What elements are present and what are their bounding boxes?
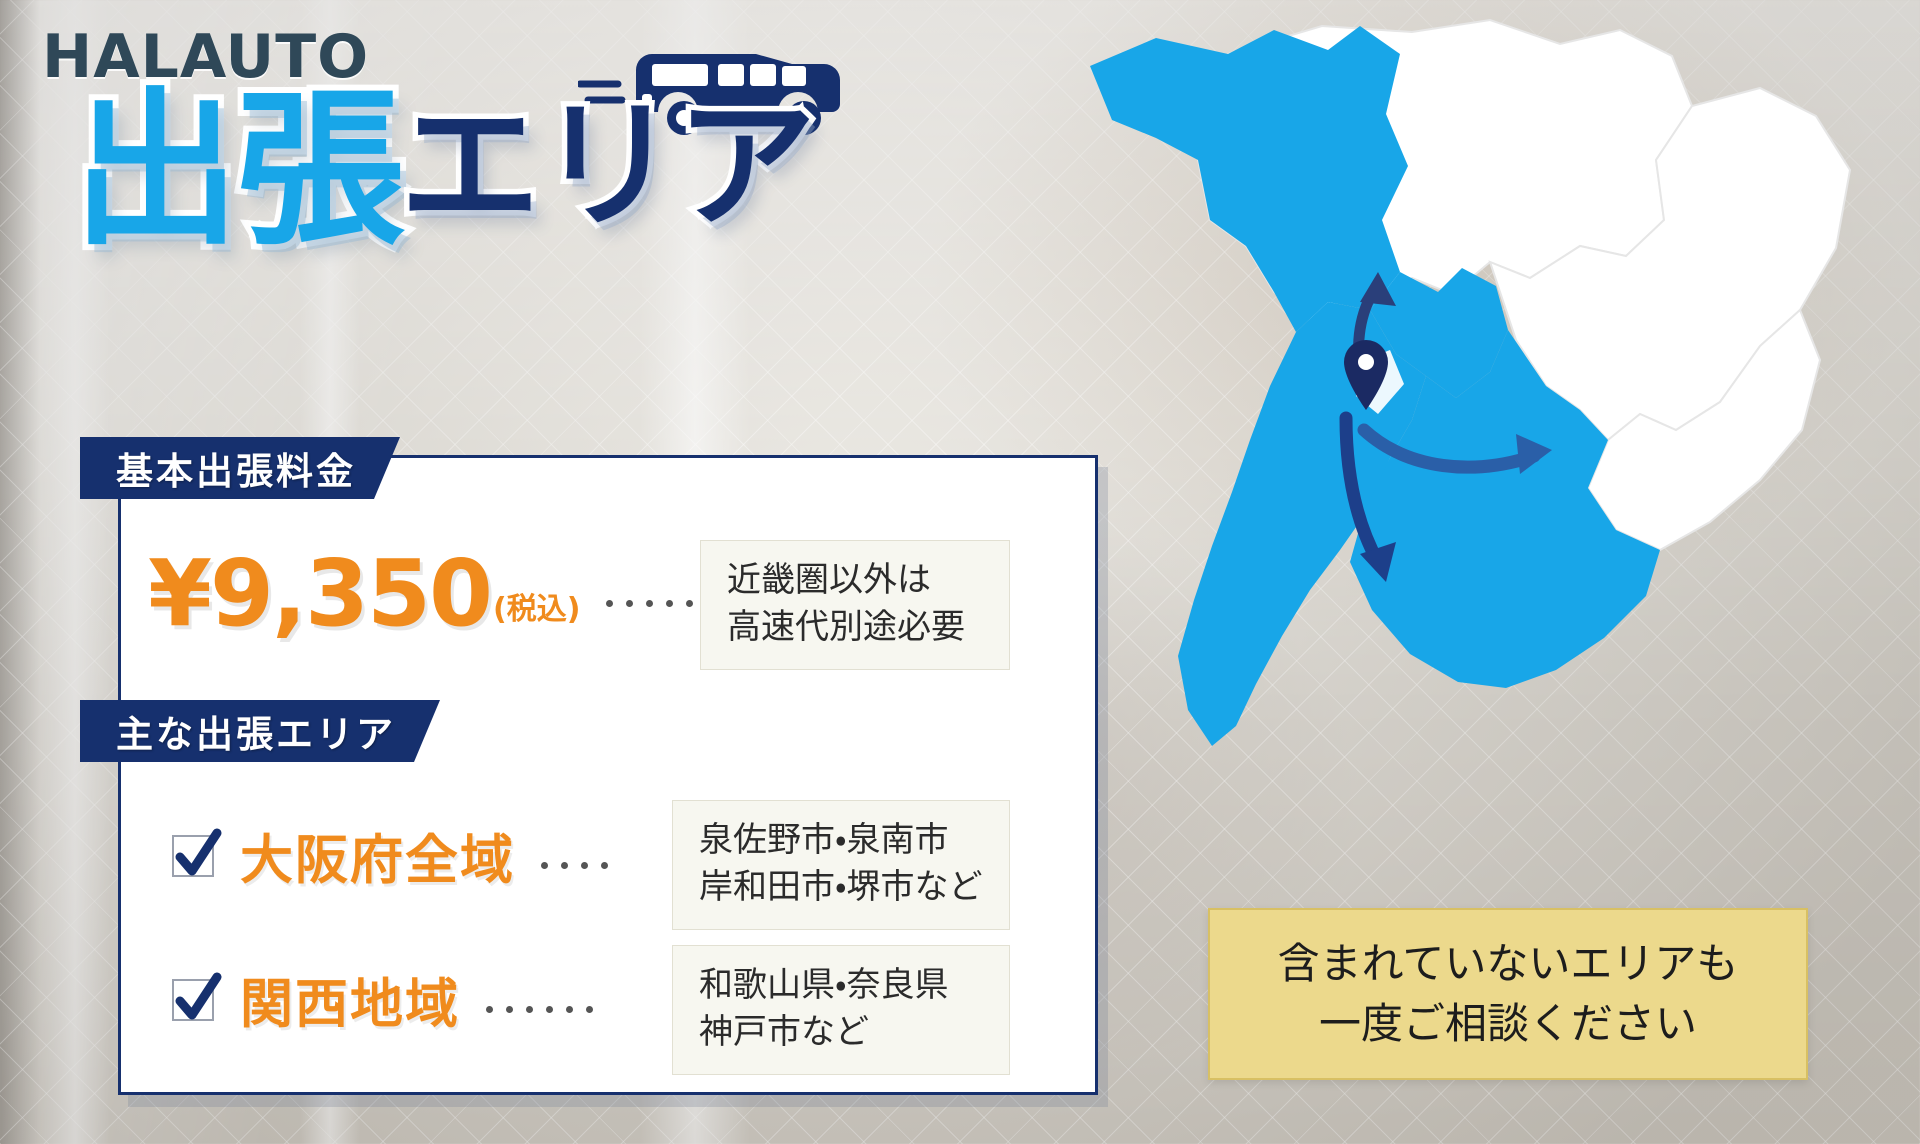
area-list-item-osaka[interactable]: 大阪府全域 [172, 818, 634, 894]
area-section-ribbon: 主な出張エリア [80, 700, 440, 762]
page-title-jp: 出張 [72, 72, 400, 268]
area-detail-osaka: 泉佐野市・泉南市 岸和田市・堺市など [672, 800, 1010, 930]
fee-tax-label: (税込) [493, 584, 580, 640]
area-label-osaka: 大阪府全域 [240, 818, 515, 894]
consultation-callout: 含まれていないエリアも 一度ご相談ください [1208, 908, 1808, 1080]
area-list-item-kansai[interactable]: 関西地域 [172, 962, 619, 1038]
kinki-region-map [1060, 10, 1880, 850]
check-mark-icon[interactable] [172, 835, 214, 877]
leader-dots [486, 988, 593, 1013]
poster-canvas: HALAUTO 出張エリア [0, 0, 1920, 1144]
fee-note: 近畿圏以外は 高速代別途必要 [700, 540, 1010, 670]
page-title: 出張エリア [72, 86, 814, 254]
fee-price: ¥9,350 [148, 548, 491, 640]
area-label-kansai: 関西地域 [240, 962, 460, 1038]
leader-dots [606, 582, 693, 607]
fee-price-row: ¥9,350 (税込) [148, 548, 719, 640]
map-area-highlight-hyogo [1090, 26, 1408, 332]
fee-section-ribbon: 基本出張料金 [80, 437, 400, 499]
leader-dots [541, 844, 608, 869]
check-mark-icon[interactable] [172, 979, 214, 1021]
page-title-kat: エリア [400, 85, 814, 248]
area-detail-kansai: 和歌山県・奈良県 神戸市など [672, 945, 1010, 1075]
